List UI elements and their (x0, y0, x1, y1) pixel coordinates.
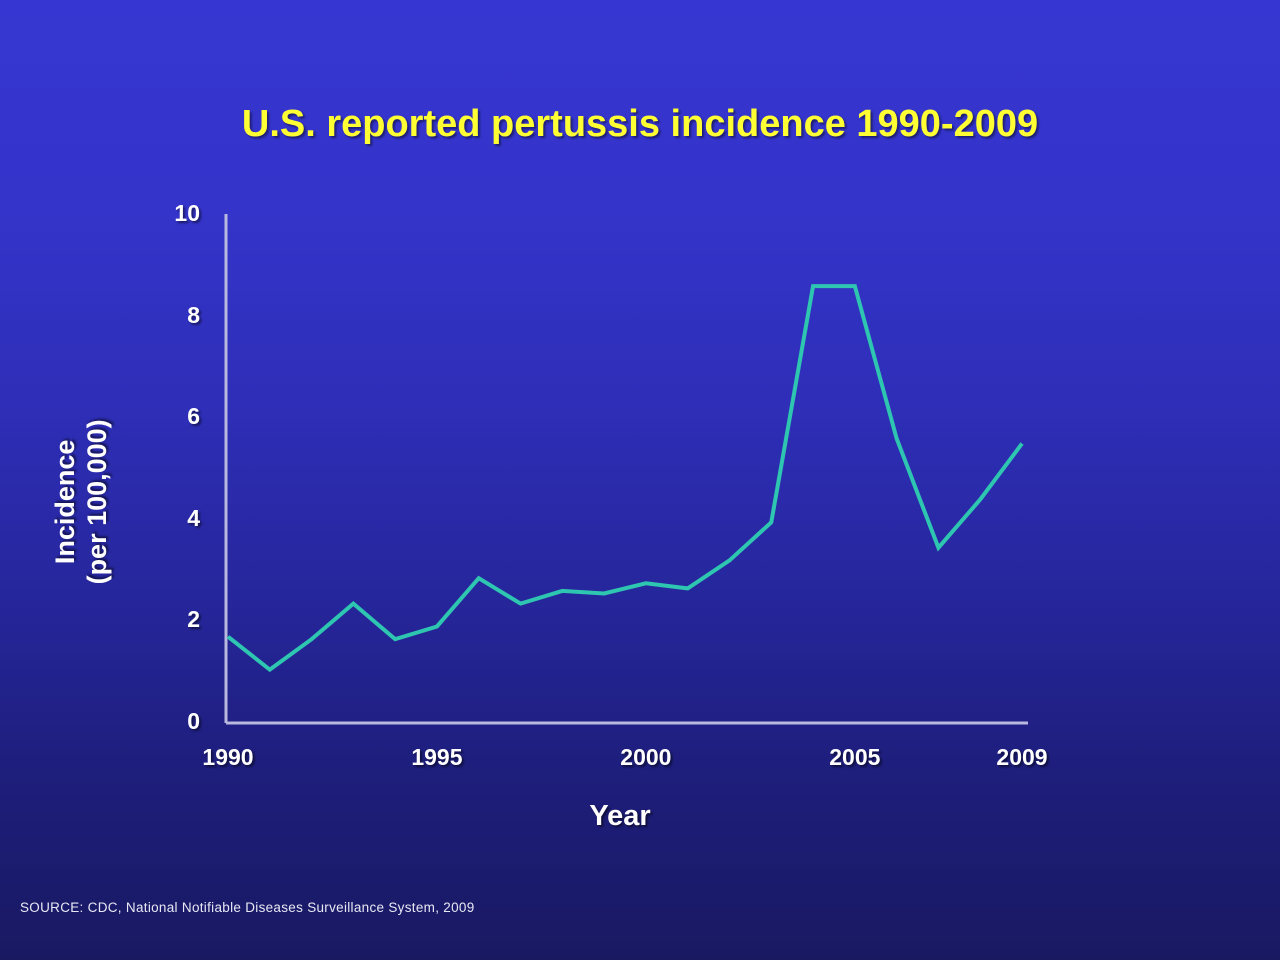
x-tick-label: 2005 (800, 744, 910, 771)
y-tick-label: 2 (140, 606, 200, 633)
source-note: SOURCE: CDC, National Notifiable Disease… (20, 900, 475, 915)
y-tick-label: 6 (140, 403, 200, 430)
y-tick-label: 0 (140, 708, 200, 735)
y-axis-title: Incidence (per 100,000) (50, 342, 114, 662)
y-axis-title-line2: (per 100,000) (82, 342, 114, 662)
slide-canvas: U.S. reported pertussis incidence 1990-2… (0, 0, 1280, 960)
x-tick-label: 2009 (967, 744, 1077, 771)
x-tick-label: 1990 (173, 744, 283, 771)
data-series-line (228, 286, 1022, 670)
y-tick-label: 8 (140, 302, 200, 329)
y-tick-label: 10 (140, 200, 200, 227)
x-tick-label: 1995 (382, 744, 492, 771)
x-axis-title: Year (430, 800, 810, 833)
y-tick-label: 4 (140, 505, 200, 532)
x-tick-label: 2000 (591, 744, 701, 771)
chart-plot-area: 0246810 19901995200020052009 Incidence (… (0, 0, 1280, 960)
y-axis-title-line1: Incidence (50, 342, 82, 662)
